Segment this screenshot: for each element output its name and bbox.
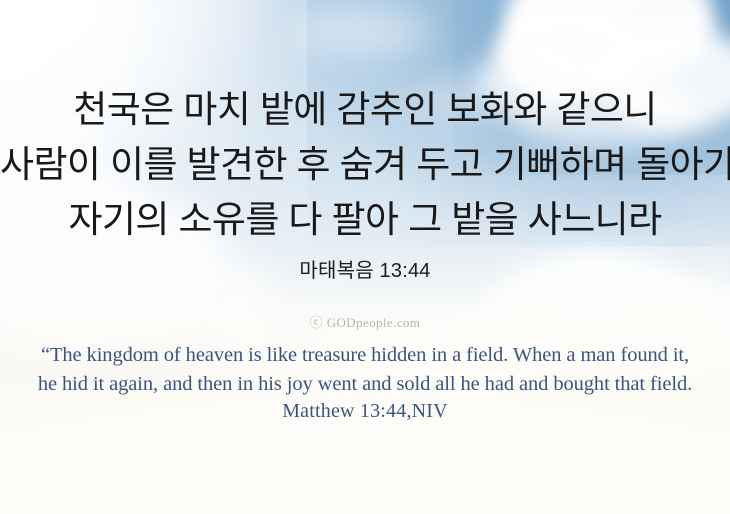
verse-content: 천국은 마치 밭에 감추인 보화와 같으니 사람이 이를 발견한 후 숨겨 두고… bbox=[0, 0, 730, 514]
korean-verse-reference: 마태복음 13:44 bbox=[0, 254, 730, 283]
english-verse-line-2: he hid it again, and then in his joy wen… bbox=[0, 370, 730, 399]
english-verse-text: “The kingdom of heaven is like treasure … bbox=[0, 341, 730, 399]
korean-verse-text: 천국은 마치 밭에 감추인 보화와 같으니 사람이 이를 발견한 후 숨겨 두고… bbox=[0, 82, 730, 247]
korean-verse-line-2: 사람이 이를 발견한 후 숨겨 두고 기뻐하며 돌아가서 bbox=[0, 137, 730, 192]
korean-verse-line-3: 자기의 소유를 다 팔아 그 밭을 사느니라 bbox=[0, 192, 730, 247]
korean-verse-line-1: 천국은 마치 밭에 감추인 보화와 같으니 bbox=[0, 82, 730, 137]
english-verse-reference: Matthew 13:44,NIV bbox=[0, 400, 730, 423]
copyright-watermark: ⓒ GODpeople.com bbox=[0, 312, 730, 331]
english-verse-line-1: “The kingdom of heaven is like treasure … bbox=[0, 341, 730, 370]
scripture-card: 천국은 마치 밭에 감추인 보화와 같으니 사람이 이를 발견한 후 숨겨 두고… bbox=[0, 0, 730, 514]
